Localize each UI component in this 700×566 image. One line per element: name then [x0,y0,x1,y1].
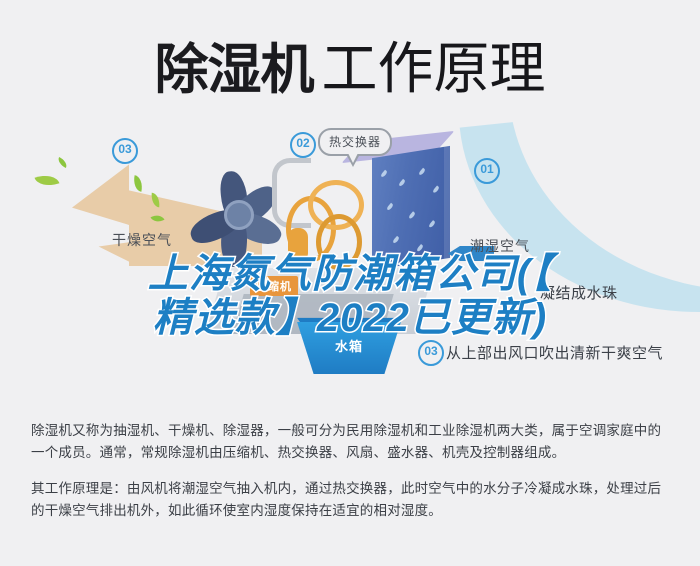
badge-01: 01 [474,158,500,184]
condensation-droplet [428,220,436,228]
outlet-step-text: 从上部出风口吹出清新干爽空气 [446,342,663,363]
badge-02: 02 [290,132,316,158]
article-body: 除湿机又称为抽湿机、干燥机、除湿器，一般可分为民用除湿机和工业除湿机两大类，属于… [31,420,671,522]
condensation-droplet [380,170,388,178]
heat-exchanger-callout: 热交换器 [318,128,392,156]
dry-air-label: 干燥空气 [112,230,172,250]
article-paragraph-1: 除湿机又称为抽湿机、干燥机、除湿器，一般可分为民用除湿机和工业除湿机两大类，属于… [31,420,671,464]
condensation-droplet [432,185,440,193]
fan-hub [224,200,254,230]
article-paragraph-2: 其工作原理是：由风机将潮湿空气抽入机内，通过热交换器，此时空气中的水分子冷凝成水… [31,478,671,522]
condensation-droplet [392,236,400,244]
condensation-droplet [398,179,406,187]
page-title-part-2: 工作原理 [322,37,546,100]
condensation-droplet [408,211,416,219]
condensation-droplet [416,244,424,252]
leaf-icon [132,175,145,192]
dehumidifier-infographic-page: 除湿机工作原理 [0,0,700,566]
condensation-droplet [418,168,426,176]
compressor-coil [282,170,368,264]
leaf-icon [56,157,69,168]
badge-03: 03 [112,138,138,164]
watermark-line-2: 精选款】2022已更新) [0,296,700,340]
badge-03-bottom: 03 [418,340,444,366]
leaf-icon [35,171,60,190]
watermark-line-1: 上海氮气防潮箱公司(【 [0,252,700,296]
page-title-part-1: 除湿机 [155,40,314,100]
watermark-overlay: 上海氮气防潮箱公司(【 精选款】2022已更新) [0,252,700,340]
condensation-droplet [386,203,394,211]
